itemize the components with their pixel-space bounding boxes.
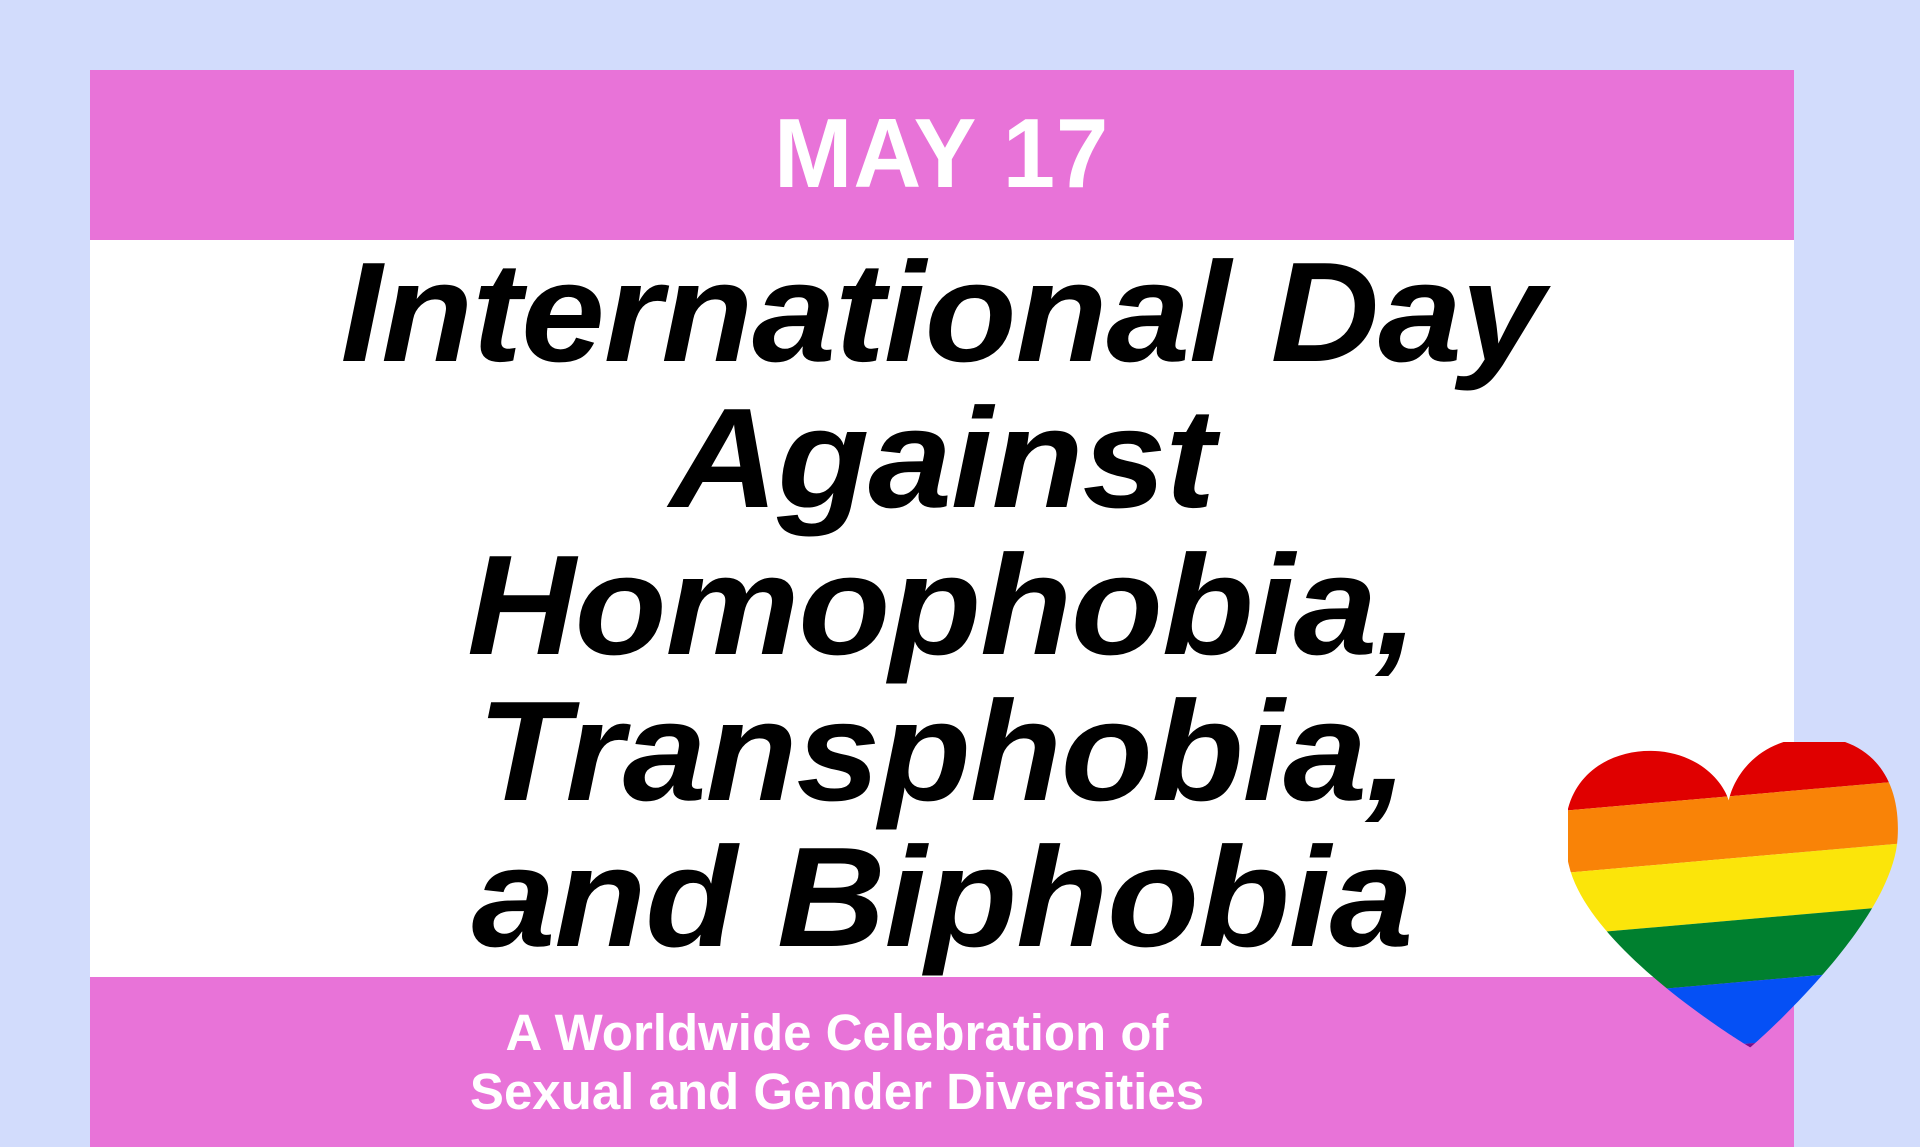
poster-canvas: MAY 17 International Day Against Homopho… (0, 0, 1920, 1080)
rainbow-heart-icon (1568, 742, 1906, 1048)
title-area: International Day Against Homophobia, Tr… (90, 240, 1794, 977)
page-title: International Day Against Homophobia, Tr… (64, 240, 1819, 971)
tagline-text: A Worldwide Celebration of Sexual and Ge… (470, 1003, 1204, 1121)
date-band: MAY 17 (90, 70, 1794, 240)
tagline-band: A Worldwide Celebration of Sexual and Ge… (90, 977, 1794, 1147)
date-text: MAY 17 (774, 104, 1109, 206)
poster-card: MAY 17 International Day Against Homopho… (90, 70, 1794, 988)
